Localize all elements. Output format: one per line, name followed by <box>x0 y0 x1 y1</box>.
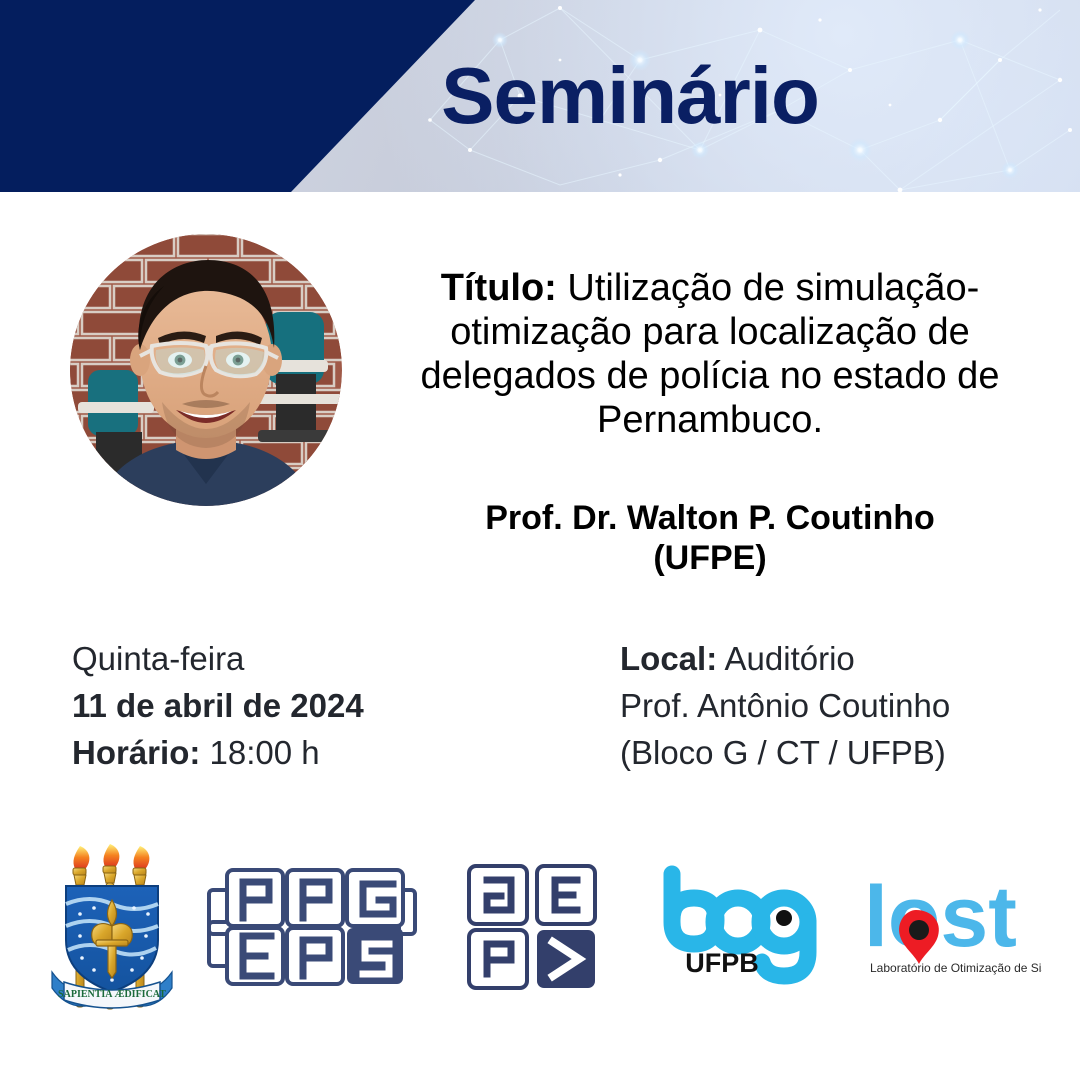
date-block: Quinta-feira 11 de abril de 2024 Horário… <box>72 636 472 777</box>
local-block: Local: Auditório Prof. Antônio Coutinho … <box>620 636 1050 777</box>
log-ufpb-logo: UFPB <box>650 860 825 990</box>
lost-wordmark: lost <box>864 869 1017 965</box>
ufpb-brasao-logo: SAPIENTIA ÆDIFICAT <box>42 842 182 1012</box>
event-time: Horário: 18:00 h <box>72 730 472 777</box>
event-weekday: Quinta-feira <box>72 636 472 683</box>
logo-row: SAPIENTIA ÆDIFICAT <box>0 840 1080 1020</box>
ufpb-brasao-icon: SAPIENTIA ÆDIFICAT <box>42 842 182 1012</box>
seminar-poster: Seminário <box>0 0 1080 1080</box>
local-line2: Prof. Antônio Coutinho <box>620 683 1050 730</box>
speaker-affiliation: (UFPE) <box>380 538 1040 578</box>
event-date: 11 de abril de 2024 <box>72 683 472 730</box>
speaker-photo <box>70 234 342 506</box>
lost-icon: lost Laboratório de Otimização de Sistem… <box>862 868 1042 983</box>
local-label: Local: <box>620 640 717 677</box>
event-time-value: 18:00 h <box>200 734 319 771</box>
speaker-name-line1: Prof. Dr. Walton P. Coutinho <box>380 498 1040 538</box>
ufpb-motto: SAPIENTIA ÆDIFICAT <box>58 989 166 1000</box>
log-ufpb-icon: UFPB <box>650 860 825 990</box>
lost-logo: lost Laboratório de Otimização de Sistem… <box>862 868 1042 983</box>
ppgeps-logo <box>205 862 420 987</box>
ppgeps-icon <box>205 862 420 987</box>
local-value: Auditório <box>717 640 855 677</box>
local-line1: Local: Auditório <box>620 636 1050 683</box>
dep-logo <box>465 862 605 992</box>
log-sub-label: UFPB <box>685 948 759 978</box>
header-banner: Seminário <box>0 0 1080 192</box>
speaker-name: Prof. Dr. Walton P. Coutinho (UFPE) <box>380 498 1040 578</box>
lost-tagline: Laboratório de Otimização de Sistemas <box>870 961 1042 975</box>
dep-icon <box>465 862 605 992</box>
local-line3: (Bloco G / CT / UFPB) <box>620 730 1050 777</box>
talk-title: Título: Utilização de simulação-otimizaç… <box>372 266 1048 442</box>
navy-diagonal-shape <box>0 0 1080 192</box>
talk-title-label: Título: <box>441 267 557 309</box>
log-dot-icon <box>776 910 792 926</box>
event-time-label: Horário: <box>72 734 200 771</box>
speaker-portrait-graphic <box>70 234 342 506</box>
